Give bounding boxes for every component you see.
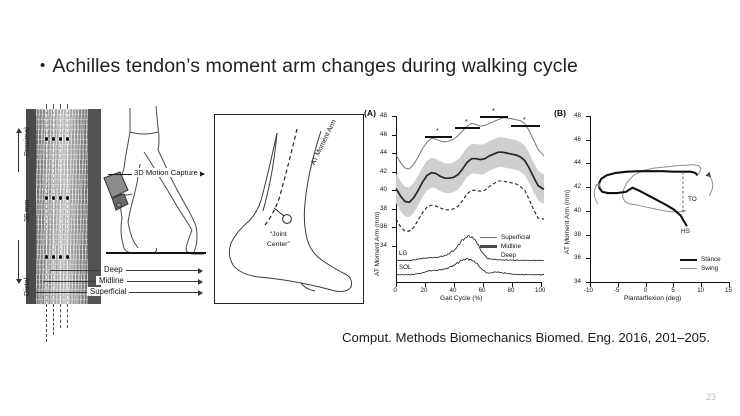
panel-a-sig-star-3: *: [492, 108, 495, 115]
depth-arrow-deep: [50, 270, 202, 271]
label-joint-center-line1: “Joint: [270, 231, 287, 238]
panel-b-direction-arc-left: [594, 184, 598, 204]
arrow-down-icon: [16, 279, 22, 284]
bullet-marker: •: [40, 57, 45, 74]
panel-a-ytick-label: 40: [380, 186, 387, 193]
legend-label-superficial: Superficial: [501, 234, 530, 241]
legend-swatch-midline: [480, 245, 497, 248]
tracking-marker: [66, 196, 70, 200]
label-deep: Deep: [101, 265, 126, 274]
panel-b-ytick-label: 46: [574, 136, 581, 143]
tracking-marker: [66, 137, 70, 141]
ultrasound-speckle: [36, 109, 88, 304]
panel-a-x-axis: [396, 282, 542, 283]
legend-label-midline: Midline: [501, 243, 521, 250]
slide-bullet: •Achilles tendon’s moment arm changes du…: [40, 55, 700, 78]
chart-panel-b: (B) AT Moment Arm (mm) Plantarflexion (d…: [550, 104, 736, 309]
panel-b-annot-to: TO: [688, 196, 697, 203]
label-distal: Distal: [22, 278, 31, 296]
page-number: 23: [706, 392, 716, 402]
legend-item-stance: Stance: [680, 256, 721, 263]
ground-line: [106, 252, 206, 254]
panel-a-emg-label-lg: LG: [399, 250, 407, 257]
panel-a-sig-bar-3: [480, 116, 508, 118]
panel-a-ytick-label: 42: [380, 168, 387, 175]
panel-b-xtick-label: -5: [614, 287, 620, 294]
panel-b-xtick-label: -10: [584, 287, 593, 294]
citation-text: Comput. Methods Biomechanics Biomed. Eng…: [342, 330, 710, 345]
bullet-text: Achilles tendon’s moment arm changes dur…: [52, 55, 578, 77]
tracking-marker: [45, 196, 49, 200]
label-joint-center-line2: Center”: [267, 241, 290, 248]
panel-a-xtick-label: 20: [421, 287, 428, 294]
panel-b-ytick-label: 40: [574, 207, 581, 214]
panel-a-sig-star-2: *: [465, 119, 468, 126]
panel-b-xtick-label: 5: [671, 287, 674, 294]
panel-a-sd-band: [396, 137, 544, 217]
legend-item-deep: Deep: [480, 252, 530, 259]
panel-a-sig-star-1: *: [436, 128, 439, 135]
panel-b-ylabel: AT Moment Arm (mm): [564, 190, 571, 254]
depth-drop-line: [67, 304, 68, 328]
legend-item-superficial: Superficial: [480, 234, 530, 241]
label-motion-capture: 3D Motion Capture: [132, 168, 200, 177]
ultrasound-image: [26, 109, 101, 304]
panel-a-ytick-label: 46: [380, 131, 387, 138]
panel-a-ytick-label: 36: [380, 223, 387, 230]
panel-b-direction-arrow-right: [705, 172, 711, 178]
panel-b-label: (B): [554, 108, 566, 118]
panel-a-sig-star-4: *: [523, 117, 526, 124]
panel-a-label: (A): [364, 108, 376, 118]
tracking-marker: [45, 137, 49, 141]
chart-panel-a: (A) AT Moment Arm (mm) Gait Cycle (%) 48…: [362, 104, 550, 309]
panel-b-xtick-label: 0: [644, 287, 647, 294]
tracking-marker: [52, 137, 56, 141]
depth-drop-line: [60, 304, 61, 328]
panel-b-ytick-label: 38: [574, 231, 581, 238]
panel-a-legend: Superficial Midline Deep: [480, 234, 530, 262]
foot-diagram-box: AT Moment Arm “Joint Center”: [214, 114, 364, 304]
ultrasound-probe: [104, 172, 128, 210]
panel-b-xtick-label: 15: [725, 287, 732, 294]
panel-b-xlabel: Plantarflexion (deg): [624, 295, 681, 302]
depth-scale-axis: [18, 132, 19, 280]
panel-a-xtick-label: 60: [479, 287, 486, 294]
panel-a-ytick-label: 44: [380, 149, 387, 156]
tracking-marker: [66, 255, 70, 259]
panel-a-xlabel: Gait Cycle (%): [440, 295, 483, 302]
panel-b-annot-hs: HS: [681, 228, 690, 235]
tracking-marker: [59, 196, 63, 200]
moment-arm-dashed-line: [265, 129, 297, 225]
label-superficial: Superficial: [87, 287, 129, 296]
panel-b-xtick-label: 10: [697, 287, 704, 294]
legend-label-stance: Stance: [701, 256, 721, 263]
leg-sketch: [100, 106, 208, 258]
legend-item-swing: Swing: [680, 265, 721, 272]
ultrasound-panel: Proximal 38 mm Distal: [4, 104, 204, 309]
figure-composite: Proximal 38 mm Distal: [4, 104, 736, 309]
legend-item-midline: Midline: [480, 243, 530, 250]
tracking-marker: [52, 255, 56, 259]
panel-b-ytick-label: 36: [574, 254, 581, 261]
panel-b-legend: Stance Swing: [680, 256, 721, 274]
panel-a-ytick-label: 48: [380, 112, 387, 119]
panel-a-xtick-label: 100: [535, 287, 545, 294]
panel-b-loop-stance: [599, 171, 698, 226]
panel-a-xtick-label: 80: [508, 287, 515, 294]
tracking-marker: [45, 255, 49, 259]
label-scale: 38 mm: [22, 199, 31, 222]
slide-canvas: •Achilles tendon’s moment arm changes du…: [0, 0, 740, 416]
panel-b-x-axis: [590, 282, 730, 283]
panel-a-sig-bar-1: [425, 136, 452, 138]
panel-b-direction-arc-right: [708, 174, 713, 196]
label-proximal: Proximal: [22, 127, 31, 156]
panel-a-xtick-label: 0: [394, 287, 397, 294]
arrow-up-icon: [16, 128, 22, 133]
label-midline: Midline: [96, 276, 127, 285]
foot-outline-sketch: [215, 115, 363, 303]
depth-drop-line: [53, 304, 54, 335]
panel-a-sig-bar-2: [455, 127, 480, 129]
legend-swatch-superficial: [480, 237, 497, 238]
depth-drop-line: [46, 304, 47, 342]
panel-a-sig-bar-4: [511, 125, 540, 127]
tracking-marker: [59, 137, 63, 141]
panel-a-ytick-label: 34: [380, 242, 387, 249]
legend-label-deep: Deep: [501, 252, 516, 259]
tracking-marker: [52, 196, 56, 200]
legend-swatch-swing: [680, 268, 697, 269]
panel-b-ytick-label: 34: [574, 278, 581, 285]
panel-a-emg-label-sol: SOL: [399, 264, 411, 271]
panel-a-ytick-label: 38: [380, 205, 387, 212]
panel-a-xtick-label: 40: [450, 287, 457, 294]
panel-b-ytick-label: 44: [574, 159, 581, 166]
panel-b-ytick-label: 48: [574, 112, 581, 119]
legend-label-swing: Swing: [701, 265, 718, 272]
panel-b-ytick-label: 42: [574, 183, 581, 190]
tracking-marker: [59, 255, 63, 259]
joint-center-leader: [274, 208, 284, 216]
legend-swatch-stance: [680, 259, 697, 261]
